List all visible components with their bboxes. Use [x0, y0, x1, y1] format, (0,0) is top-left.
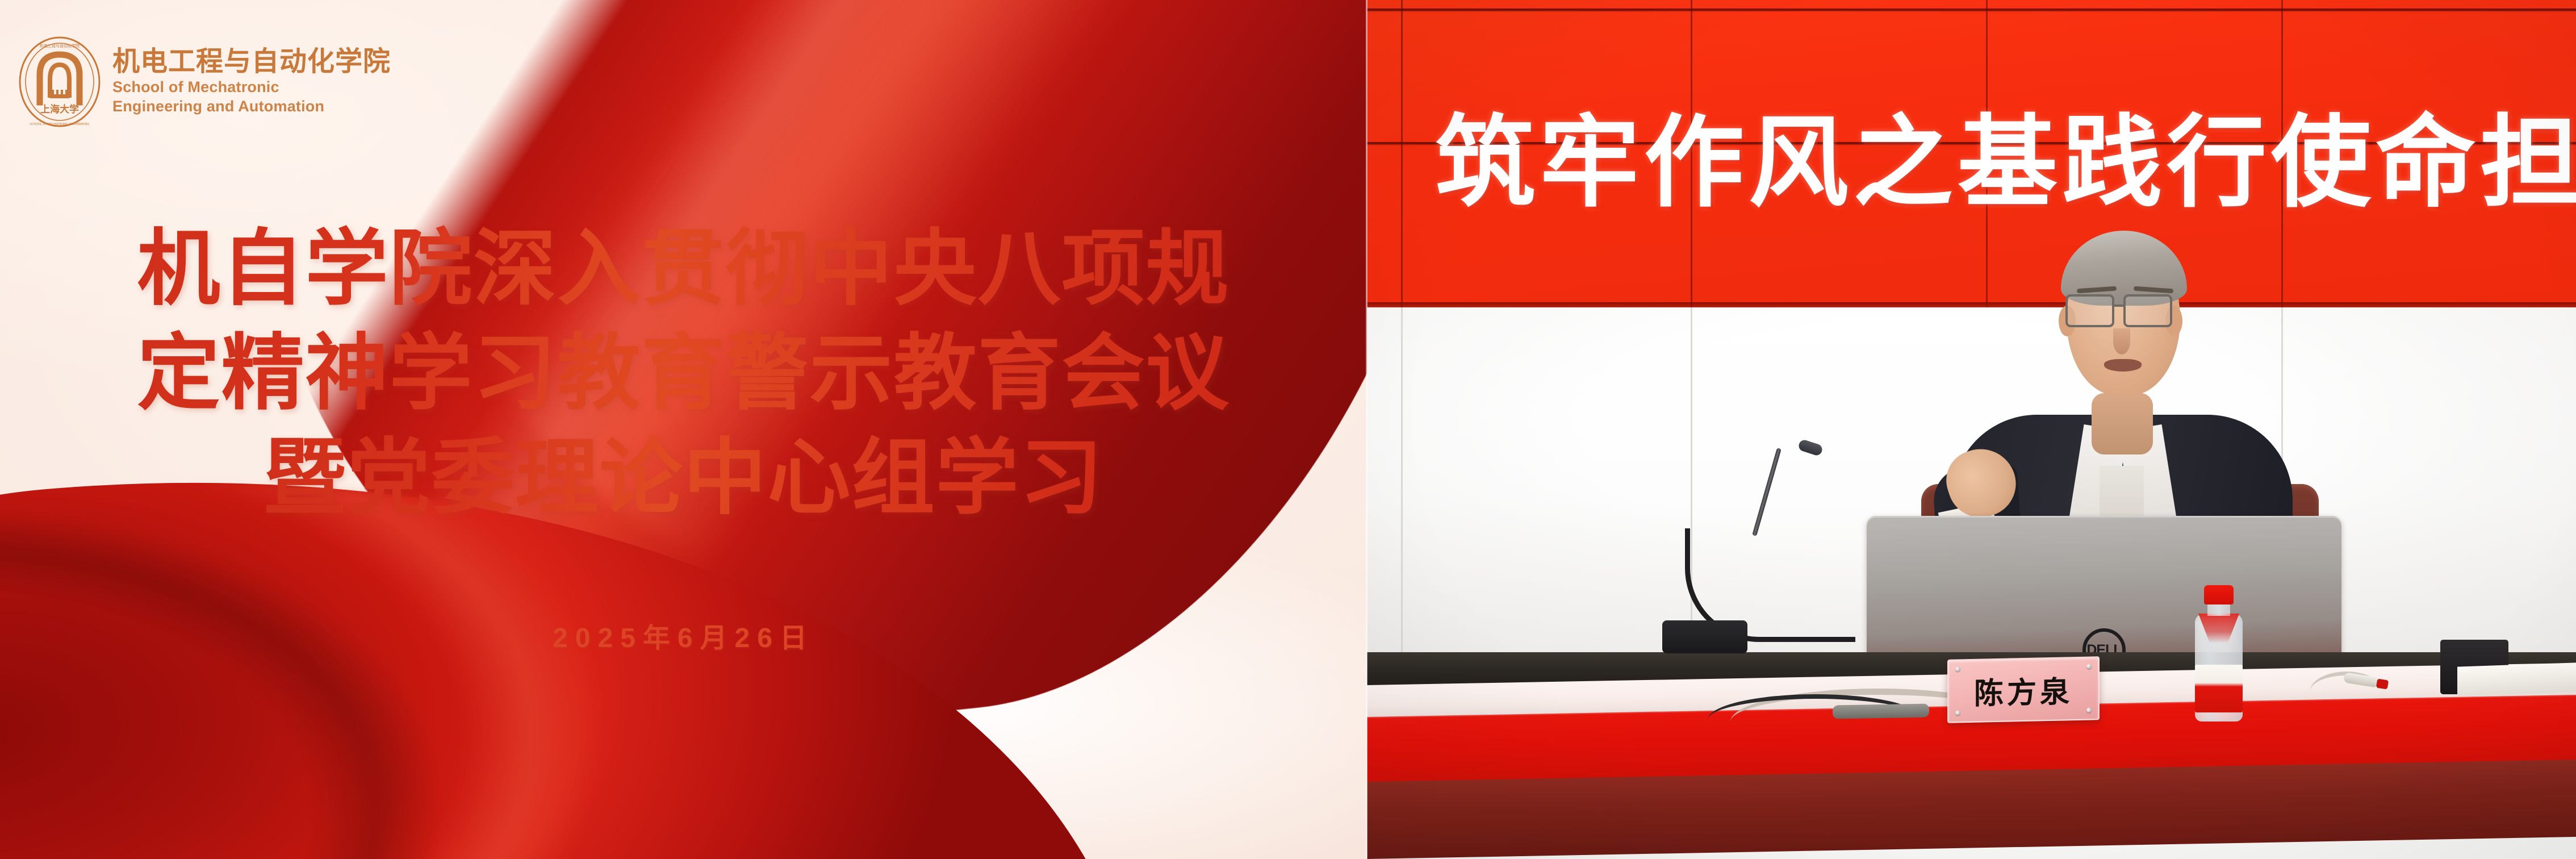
second-microphone-tip: [2376, 679, 2389, 690]
glasses-lens-left: [2065, 294, 2114, 327]
nameplate-name: 陈方泉: [1974, 668, 2073, 712]
svg-text:机电工程与自动化学院: 机电工程与自动化学院: [40, 43, 80, 48]
paper-stack: [2457, 662, 2576, 696]
bottle-cap: [2204, 585, 2234, 604]
eyebrows: [2077, 287, 2173, 292]
poster-title-line-1: 机自学院深入贯彻中央八项规: [137, 215, 1230, 323]
poster-panel: 上海大学 机电工程与自动化学院 SCHOOL OF MECHATRONIC EN…: [0, 0, 1367, 859]
poster-title-line-3: 暨党委理论中心组学习: [264, 424, 1104, 532]
poster-title-line-2: 定精神学习教育警示教育会议: [137, 319, 1230, 427]
water-bottle-icon: [2192, 585, 2246, 722]
nose: [2113, 328, 2130, 355]
school-name-en-line1: School of Mechatronic: [112, 78, 391, 96]
panel-divider: [1366, 0, 1368, 859]
neck: [2092, 393, 2153, 454]
glasses-lens-right: [2123, 294, 2172, 327]
conference-photo-panel: 筑牢作风之基 践行使命担当: [1367, 0, 2576, 859]
bottle-neck: [2207, 603, 2230, 616]
nameplate-screw-top-left: [1955, 666, 1960, 672]
school-logo-block: 上海大学 机电工程与自动化学院 SCHOOL OF MECHATRONIC EN…: [17, 35, 391, 128]
nameplate: 陈方泉: [1947, 656, 2100, 723]
composite-image: 上海大学 机电工程与自动化学院 SCHOOL OF MECHATRONIC EN…: [0, 0, 2576, 859]
table-cable-grommet: [1833, 704, 1929, 719]
shanghai-university-seal-icon: 上海大学 机电工程与自动化学院 SCHOOL OF MECHATRONIC EN…: [17, 35, 102, 128]
nameplate-screw-bottom-left: [1955, 710, 1960, 715]
poster-date: 2025年6月26日: [0, 615, 1367, 655]
microphone-base: [1662, 620, 1747, 653]
school-name-cn: 机电工程与自动化学院: [112, 48, 391, 77]
mouth: [2104, 359, 2142, 372]
svg-text:上海大学: 上海大学: [40, 103, 79, 115]
bottle-label: [2195, 665, 2243, 712]
glasses-icon: [2063, 294, 2186, 330]
poster-title-block: 机自学院深入贯彻中央八项规 定精神学习教育警示教育会议 暨党委理论中心组学习: [0, 215, 1367, 531]
nameplate-screw-top-right: [2086, 664, 2092, 669]
glasses-bridge: [2114, 305, 2126, 307]
school-name-text: 机电工程与自动化学院 School of Mechatronic Enginee…: [112, 48, 391, 116]
svg-text:SCHOOL OF MECHATRONIC ENGINEER: SCHOOL OF MECHATRONIC ENGINEERING: [30, 123, 90, 126]
nameplate-screw-bottom-right: [2086, 707, 2092, 712]
school-name-en-line2: Engineering and Automation: [112, 97, 391, 115]
